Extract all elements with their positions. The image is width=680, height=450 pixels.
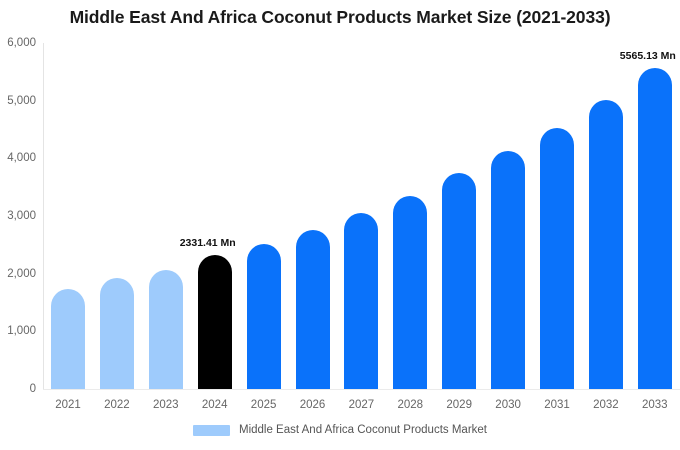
y-axis-tick-2000: 2,000	[0, 268, 36, 280]
legend-item-0[interactable]: Middle East And Africa Coconut Products …	[193, 424, 487, 436]
x-axis-tick-2021: 2021	[55, 399, 81, 411]
bar-2025[interactable]	[247, 244, 281, 389]
y-axis-tick-1000: 1,000	[0, 325, 36, 337]
bar-2027[interactable]	[344, 213, 378, 389]
bar-value-label-2024: 2331.41 Mn	[180, 237, 236, 249]
x-axis-tick-2022: 2022	[104, 399, 130, 411]
x-axis-tick-2023: 2023	[153, 399, 179, 411]
bar-value-label-2033: 5565.13 Mn	[620, 50, 676, 62]
legend-label: Middle East And Africa Coconut Products …	[239, 424, 487, 436]
bar-2023[interactable]	[149, 270, 183, 389]
x-axis-tick-2025: 2025	[251, 399, 277, 411]
y-axis-tick-3000: 3,000	[0, 210, 36, 222]
y-axis-line	[43, 43, 44, 390]
chart-title: Middle East And Africa Coconut Products …	[0, 7, 680, 28]
bar-2029[interactable]	[442, 173, 476, 389]
x-axis-tick-2026: 2026	[300, 399, 326, 411]
chart-container: Middle East And Africa Coconut Products …	[0, 0, 680, 450]
x-axis-tick-2032: 2032	[593, 399, 619, 411]
bar-2031[interactable]	[540, 128, 574, 389]
x-axis-line	[43, 389, 680, 390]
bar-2022[interactable]	[100, 278, 134, 389]
y-axis-tick-4000: 4,000	[0, 152, 36, 164]
x-axis-tick-2031: 2031	[544, 399, 570, 411]
x-axis-tick-2033: 2033	[642, 399, 668, 411]
x-axis-tick-2029: 2029	[446, 399, 472, 411]
bar-2026[interactable]	[296, 230, 330, 389]
y-axis-tick-0: 0	[0, 383, 36, 395]
y-axis-tick-6000: 6,000	[0, 37, 36, 49]
bar-2028[interactable]	[393, 196, 427, 389]
x-axis-tick-2024: 2024	[202, 399, 228, 411]
y-axis-tick-5000: 5,000	[0, 95, 36, 107]
x-axis-tick-2027: 2027	[349, 399, 375, 411]
bar-2033[interactable]	[638, 68, 672, 389]
bar-2021[interactable]	[51, 289, 85, 389]
legend-swatch-icon	[193, 425, 230, 436]
x-axis-tick-2028: 2028	[398, 399, 424, 411]
bar-2032[interactable]	[589, 100, 623, 389]
x-axis-tick-2030: 2030	[495, 399, 521, 411]
chart-legend: Middle East And Africa Coconut Products …	[0, 424, 680, 436]
bar-2024[interactable]	[198, 255, 232, 389]
bar-2030[interactable]	[491, 151, 525, 389]
